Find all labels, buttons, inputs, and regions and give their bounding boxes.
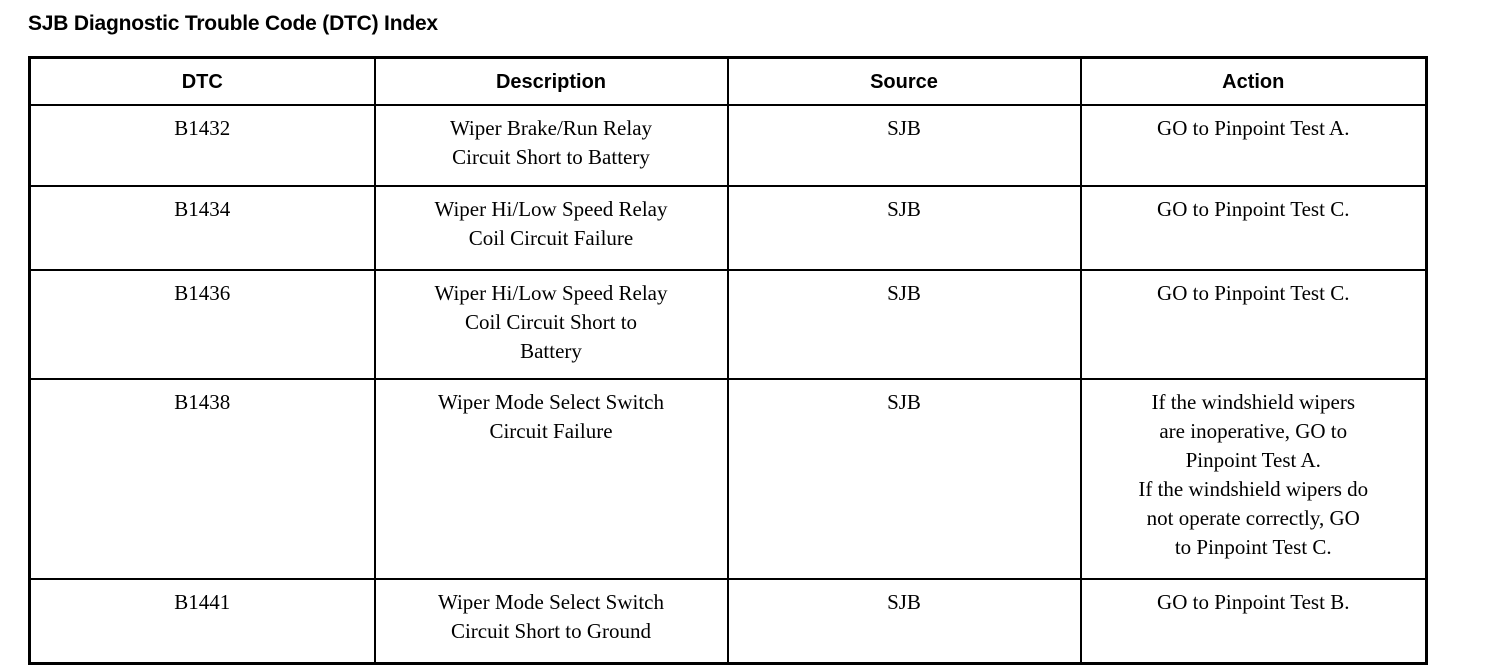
cell-source: SJB <box>728 579 1081 664</box>
table-header-row: DTC Description Source Action <box>30 58 1427 106</box>
cell-action: GO to Pinpoint Test B. <box>1081 579 1427 664</box>
cell-line: If the windshield wipers <box>1088 388 1420 417</box>
cell-line: Coil Circuit Failure <box>382 224 721 253</box>
cell-line: Wiper Mode Select Switch <box>382 588 721 617</box>
cell-description: Wiper Mode Select Switch Circuit Failure <box>375 379 728 579</box>
cell-line: GO to Pinpoint Test A. <box>1088 114 1420 143</box>
cell-line: not operate correctly, GO <box>1088 504 1420 533</box>
cell-line: If the windshield wipers do <box>1088 475 1420 504</box>
cell-action: GO to Pinpoint Test A. <box>1081 105 1427 186</box>
cell-description: Wiper Brake/Run Relay Circuit Short to B… <box>375 105 728 186</box>
dtc-index-table-container: DTC Description Source Action B1432 Wipe… <box>28 56 1425 665</box>
cell-description: Wiper Mode Select Switch Circuit Short t… <box>375 579 728 664</box>
cell-line: GO to Pinpoint Test B. <box>1088 588 1420 617</box>
cell-line: to Pinpoint Test C. <box>1088 533 1420 562</box>
cell-line: Circuit Short to Battery <box>382 143 721 172</box>
cell-description: Wiper Hi/Low Speed Relay Coil Circuit Sh… <box>375 270 728 379</box>
column-header-dtc: DTC <box>30 58 375 106</box>
column-header-source: Source <box>728 58 1081 106</box>
cell-line: Circuit Short to Ground <box>382 617 721 646</box>
cell-line: GO to Pinpoint Test C. <box>1088 279 1420 308</box>
cell-source: SJB <box>728 270 1081 379</box>
table-row: B1434 Wiper Hi/Low Speed Relay Coil Circ… <box>30 186 1427 270</box>
cell-dtc: B1434 <box>30 186 375 270</box>
cell-line: Circuit Failure <box>382 417 721 446</box>
table-row: B1436 Wiper Hi/Low Speed Relay Coil Circ… <box>30 270 1427 379</box>
cell-dtc: B1436 <box>30 270 375 379</box>
page-title: SJB Diagnostic Trouble Code (DTC) Index <box>28 11 438 37</box>
cell-source: SJB <box>728 379 1081 579</box>
table-row: B1432 Wiper Brake/Run Relay Circuit Shor… <box>30 105 1427 186</box>
document-page: SJB Diagnostic Trouble Code (DTC) Index … <box>0 0 1504 650</box>
cell-source: SJB <box>728 105 1081 186</box>
cell-line: Wiper Brake/Run Relay <box>382 114 721 143</box>
cell-line: Battery <box>382 337 721 366</box>
cell-action: GO to Pinpoint Test C. <box>1081 270 1427 379</box>
dtc-index-table: DTC Description Source Action B1432 Wipe… <box>28 56 1428 665</box>
cell-line: are inoperative, GO to <box>1088 417 1420 446</box>
table-row: B1438 Wiper Mode Select Switch Circuit F… <box>30 379 1427 579</box>
cell-description: Wiper Hi/Low Speed Relay Coil Circuit Fa… <box>375 186 728 270</box>
cell-line: Coil Circuit Short to <box>382 308 721 337</box>
cell-line: Pinpoint Test A. <box>1088 446 1420 475</box>
table-row: B1441 Wiper Mode Select Switch Circuit S… <box>30 579 1427 664</box>
table-body: B1432 Wiper Brake/Run Relay Circuit Shor… <box>30 105 1427 664</box>
cell-source: SJB <box>728 186 1081 270</box>
cell-line: Wiper Hi/Low Speed Relay <box>382 279 721 308</box>
cell-dtc: B1438 <box>30 379 375 579</box>
column-header-description: Description <box>375 58 728 106</box>
cell-action: If the windshield wipers are inoperative… <box>1081 379 1427 579</box>
cell-dtc: B1441 <box>30 579 375 664</box>
cell-dtc: B1432 <box>30 105 375 186</box>
table-header: DTC Description Source Action <box>30 58 1427 106</box>
cell-line: Wiper Hi/Low Speed Relay <box>382 195 721 224</box>
column-header-action: Action <box>1081 58 1427 106</box>
cell-action: GO to Pinpoint Test C. <box>1081 186 1427 270</box>
cell-line: Wiper Mode Select Switch <box>382 388 721 417</box>
cell-line: GO to Pinpoint Test C. <box>1088 195 1420 224</box>
